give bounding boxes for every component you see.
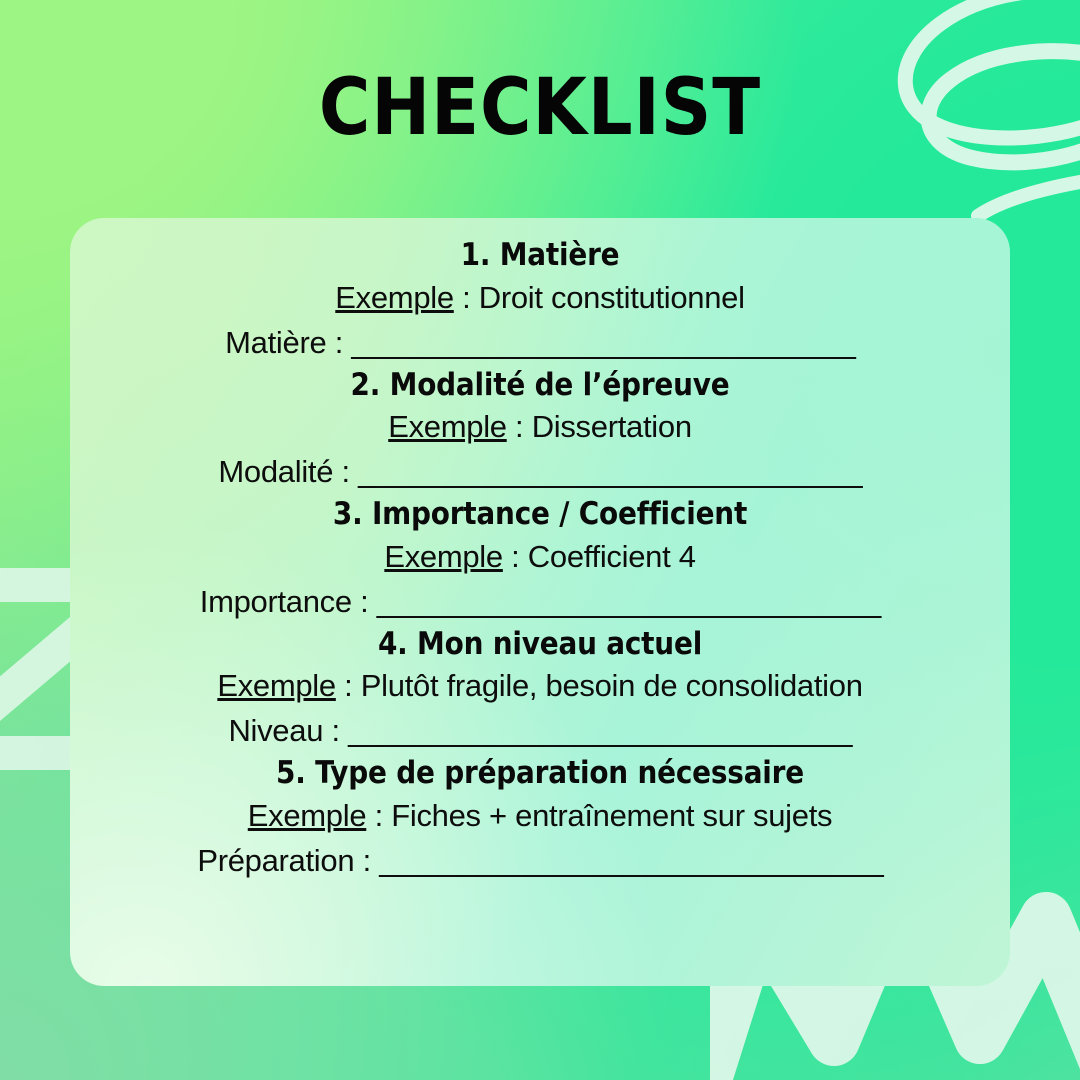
field-label: Préparation : [197,843,379,878]
item-example: Exemple : Dissertation [96,405,984,449]
example-separator: : [366,798,391,833]
item-blank-line[interactable]: Matière : ______________________________… [96,320,984,366]
checklist-item-1: 1. Matière Exemple : Droit constitutionn… [96,236,984,366]
example-separator: : [454,280,479,315]
item-heading: 3. Importance / Coefficient [96,495,984,535]
example-label: Exemple [335,280,454,315]
example-label: Exemple [248,798,367,833]
example-value: Dissertation [532,409,692,444]
item-heading: 4. Mon niveau actuel [96,625,984,665]
blank-rule[interactable]: _______________________________ [377,584,880,619]
item-blank-line[interactable]: Préparation : __________________________… [96,838,984,884]
example-separator: : [507,409,532,444]
example-label: Exemple [217,668,336,703]
item-heading: 1. Matière [96,236,984,276]
page-title: CHECKLIST [0,66,1080,152]
field-label: Modalité : [218,454,358,489]
field-label: Matière : [225,325,351,360]
item-heading: 5. Type de préparation nécessaire [96,754,984,794]
example-separator: : [503,539,528,574]
item-blank-line[interactable]: Importance : ___________________________… [96,579,984,625]
checklist-card: 1. Matière Exemple : Droit constitutionn… [70,218,1010,986]
example-label: Exemple [384,539,503,574]
poster-canvas: CHECKLIST 1. Matière Exemple : Droit con… [0,0,1080,1080]
item-example: Exemple : Plutôt fragile, besoin de cons… [96,664,984,708]
example-value: Coefficient 4 [528,539,696,574]
field-label: Niveau : [228,713,348,748]
example-value: Droit constitutionnel [479,280,745,315]
field-label: Importance : [200,584,377,619]
item-example: Exemple : Droit constitutionnel [96,276,984,320]
item-blank-line[interactable]: Niveau : _______________________________ [96,708,984,754]
blank-rule[interactable]: _______________________________ [351,325,854,360]
checklist-item-2: 2. Modalité de l’épreuve Exemple : Disse… [96,366,984,496]
item-example: Exemple : Coefficient 4 [96,535,984,579]
item-blank-line[interactable]: Modalité : _____________________________… [96,449,984,495]
checklist-item-5: 5. Type de préparation nécessaire Exempl… [96,754,984,884]
example-separator: : [336,668,361,703]
item-heading: 2. Modalité de l’épreuve [96,366,984,406]
example-label: Exemple [388,409,507,444]
blank-rule[interactable]: _______________________________ [379,843,882,878]
checklist-item-3: 3. Importance / Coefficient Exemple : Co… [96,495,984,625]
blank-rule[interactable]: _______________________________ [358,454,861,489]
example-value: Fiches + entraînement sur sujets [391,798,832,833]
checklist-item-4: 4. Mon niveau actuel Exemple : Plutôt fr… [96,625,984,755]
item-example: Exemple : Fiches + entraînement sur suje… [96,794,984,838]
example-value: Plutôt fragile, besoin de consolidation [361,668,863,703]
blank-rule[interactable]: _______________________________ [348,713,851,748]
